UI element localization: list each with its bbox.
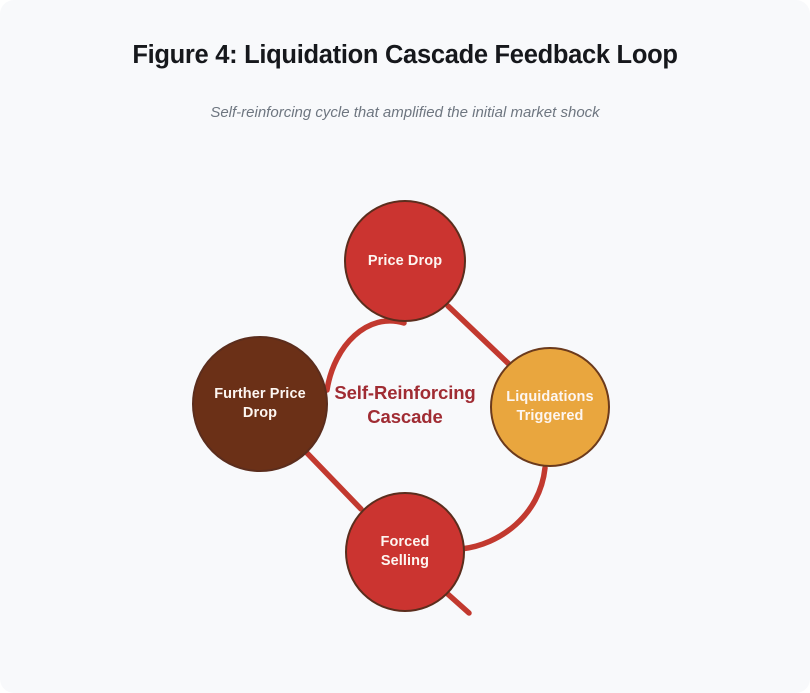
- figure-card: Figure 4: Liquidation Cascade Feedback L…: [0, 0, 810, 693]
- connector-price-drop-to-liquidations: [448, 306, 512, 367]
- cycle-node-further-price-drop-label-line1: Further Price: [214, 385, 306, 404]
- cycle-center-caption-line1: Self-Reinforcing: [334, 382, 475, 403]
- cycle-node-liquidations-triggered-label: Liquidations Triggered: [506, 388, 593, 425]
- cycle-node-further-price-drop-label-line2: Drop: [214, 404, 306, 423]
- cycle-node-price-drop[interactable]: Price Drop: [344, 200, 466, 322]
- connector-liquidations-to-forced-selling: [461, 468, 545, 549]
- cycle-center-caption-line2: Cascade: [367, 406, 442, 427]
- cycle-node-liquidations-triggered-label-line2: Triggered: [506, 407, 593, 426]
- cycle-node-liquidations-triggered-label-line1: Liquidations: [506, 388, 593, 407]
- cycle-node-price-drop-label-line1: Price Drop: [368, 252, 442, 271]
- cycle-center-caption: Self-Reinforcing Cascade: [305, 381, 505, 430]
- cycle-node-forced-selling-label-line1: Forced: [381, 533, 430, 552]
- connector-forced-selling-to-further-price-drop: [307, 453, 361, 509]
- cycle-node-price-drop-label: Price Drop: [368, 252, 442, 271]
- cycle-node-forced-selling-label-line2: Selling: [381, 552, 430, 571]
- cycle-diagram: Price Drop Liquidations Triggered Forced…: [0, 0, 810, 693]
- cycle-node-further-price-drop-label: Further Price Drop: [214, 385, 306, 422]
- cycle-node-forced-selling[interactable]: Forced Selling: [345, 492, 465, 612]
- cycle-node-liquidations-triggered[interactable]: Liquidations Triggered: [490, 347, 610, 467]
- connector-further-price-drop-to-price-drop: [327, 321, 404, 390]
- cycle-node-forced-selling-label: Forced Selling: [381, 533, 430, 570]
